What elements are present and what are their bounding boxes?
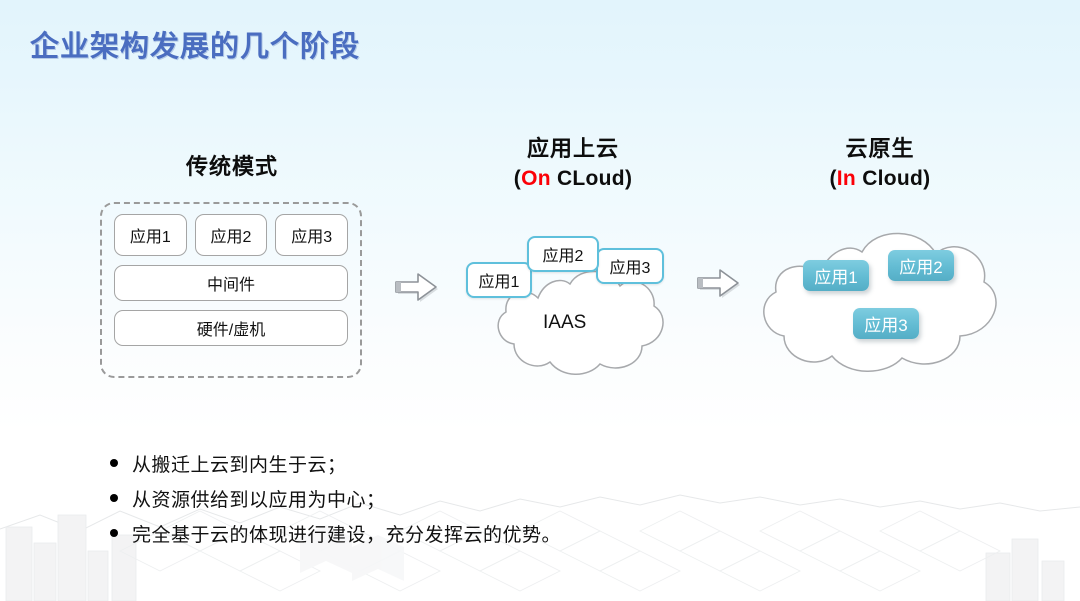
arrow-traditional-to-oncloud-icon — [396, 272, 440, 306]
traditional-middleware-box[interactable]: 中间件 — [114, 265, 348, 301]
traditional-hardware-box[interactable]: 硬件/虚机 — [114, 310, 348, 346]
page-title: 企业架构发展的几个阶段 — [30, 23, 360, 65]
bullet-dot-icon — [110, 529, 118, 537]
list-item: 从搬迁上云到内生于云； — [110, 455, 870, 477]
bullet-text-1: 从搬迁上云到内生于云； — [132, 455, 347, 477]
bullet-dot-icon — [110, 494, 118, 502]
oncloud-app-card-1[interactable]: 应用1 — [466, 262, 532, 298]
traditional-app-row: 应用1 应用2 应用3 — [114, 214, 348, 256]
section-heading-cloud-native-cn: 云原生 — [740, 134, 1020, 164]
cloudnative-app-card-2[interactable]: 应用2 — [888, 250, 954, 281]
arrow-oncloud-to-cloudnative-icon — [698, 268, 742, 302]
cloud-native-rest-word: Cloud) — [856, 167, 930, 190]
oncloud-app-card-2[interactable]: 应用2 — [527, 236, 599, 272]
on-cloud-rest-word: CLoud) — [551, 167, 632, 190]
cloud-native-highlight-word: In — [837, 167, 856, 190]
section-heading-cloud-native: 云原生 (In Cloud) — [740, 134, 1020, 194]
section-heading-traditional: 传统模式 — [92, 152, 372, 182]
oncloud-app-card-3[interactable]: 应用3 — [596, 248, 664, 284]
traditional-app-box-3[interactable]: 应用3 — [275, 214, 348, 256]
section-heading-on-cloud-en: (On CLoud) — [438, 164, 708, 194]
cloudnative-app-card-1[interactable]: 应用1 — [803, 260, 869, 291]
cloudnative-app-card-3[interactable]: 应用3 — [853, 308, 919, 339]
section-heading-on-cloud: 应用上云 (On CLoud) — [438, 134, 708, 194]
on-cloud-paren-open: ( — [514, 167, 521, 190]
bullet-text-3: 完全基于云的体现进行建设，充分发挥云的优势。 — [132, 525, 561, 547]
iaas-cloud-label: IAAS — [543, 312, 586, 334]
section-heading-cloud-native-en: (In Cloud) — [740, 164, 1020, 194]
list-item: 完全基于云的体现进行建设，充分发挥云的优势。 — [110, 525, 870, 547]
on-cloud-highlight-word: On — [521, 167, 551, 190]
list-item: 从资源供给到以应用为中心； — [110, 490, 870, 512]
summary-bullet-list: 从搬迁上云到内生于云； 从资源供给到以应用为中心； 完全基于云的体现进行建设，充… — [110, 455, 870, 560]
bullet-dot-icon — [110, 459, 118, 467]
cloud-native-paren-open: ( — [830, 167, 837, 190]
cloud-native-cloud-shape — [762, 222, 1014, 377]
section-heading-on-cloud-cn: 应用上云 — [438, 134, 708, 164]
traditional-architecture-panel: 应用1 应用2 应用3 中间件 硬件/虚机 — [100, 202, 362, 378]
traditional-app-box-2[interactable]: 应用2 — [195, 214, 268, 256]
traditional-app-box-1[interactable]: 应用1 — [114, 214, 187, 256]
section-heading-traditional-cn: 传统模式 — [92, 152, 372, 182]
bullet-text-2: 从资源供给到以应用为中心； — [132, 490, 386, 512]
slide-canvas: 企业架构发展的几个阶段 传统模式 应用1 应用2 应用3 中间件 硬件/虚机 应… — [0, 0, 1080, 601]
